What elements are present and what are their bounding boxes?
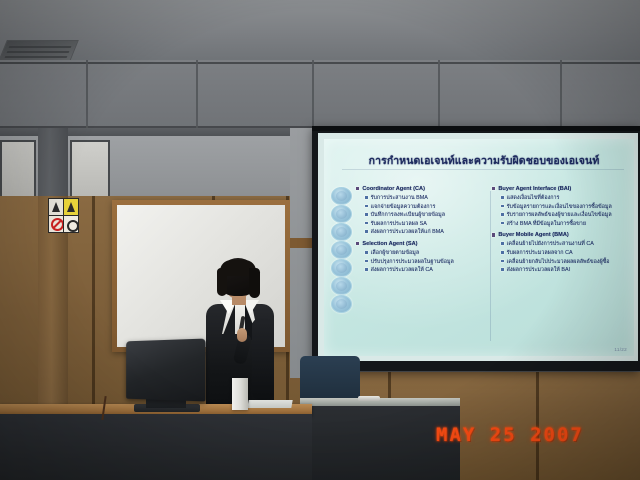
side-board-left [0,140,36,200]
bullet-square-icon [365,213,368,216]
wall-seam [196,60,198,128]
bullet-square-icon [501,205,504,208]
bullet-square-icon [501,260,504,263]
bullet-square-icon [492,187,495,190]
bullet-square-icon [501,213,504,216]
slide-group: Buyer Agent Interface (BAI) แสดงเงื่อนไข… [492,185,632,228]
group-heading: Buyer Agent Interface (BAI) [492,185,632,193]
list-item-label: เคลื่อนย้ายไปยังการประสานงานที่ CA [507,240,594,249]
wall-seam [312,60,314,128]
list-item: เคลื่อนย้ายกลับไปประมวลผลผลลัพธ์ของผู้ซื… [501,258,632,267]
list-item: รับการประสานงาน BMA [365,194,488,203]
list-item-label: รับการประสานงาน BMA [371,194,428,203]
list-item: เคลื่อนย้ายไปยังการประสานงานที่ CA [501,240,632,249]
bullet-square-icon [492,233,495,236]
slide-group: Selection Agent (SA) เลือกผู้ขายตามข้อมู… [356,240,488,275]
list-item-label: สร้าง BMA ที่มีข้อมูลในการซื้อขาย [507,220,586,229]
prohibition-sign-icon [63,215,79,233]
bullet-square-icon [356,187,359,190]
group-heading-label: Coordinator Agent (CA) [362,185,425,193]
list-item-label: เคลื่อนย้ายกลับไปประมวลผลผลลัพธ์ของผู้ซื… [507,258,610,267]
list-item-label: รับผลการประมวลผล SA [371,220,427,229]
bullet-square-icon [501,196,504,199]
projection-screen: การกำหนดเอเจนท์และความรับผิดชอบของเอเจนท… [318,133,638,361]
slide-group: Buyer Mobile Agent (BMA) เคลื่อนย้ายไปยั… [492,231,632,274]
hair-side-right [249,268,260,298]
slide-column-right: Buyer Agent Interface (BAI) แสดงเงื่อนไข… [492,185,632,278]
bullet-square-icon [365,230,368,233]
group-heading-label: Selection Agent (SA) [362,240,417,248]
list-item: ส่งผลการประมวลผลให้ CA [365,266,488,275]
group-heading-label: Buyer Agent Interface (BAI) [498,185,571,193]
column-divider [490,191,491,341]
wall-panel [112,136,290,198]
camera-date-stamp: MAY 25 2007 [436,424,584,446]
warning-signs-group [48,198,78,232]
hand [237,328,247,342]
bullet-square-icon [365,205,368,208]
bullet-square-icon [365,260,368,263]
list-item-label: รับรายการผลลัพธ์ของผู้ขายและเงื่อนไขข้อม… [507,211,612,220]
list-item: ส่งผลการประมวลผลให้ BAI [501,266,632,275]
wall-seam [438,60,440,128]
list-item-label: ปรับปรุงการประมวลผลในฐานข้อมูล [371,258,454,267]
slide-group: Coordinator Agent (CA) รับการประสานงาน B… [356,185,488,237]
powerpoint-slide: การกำหนดเอเจนท์และความรับผิดชอบของเอเจนท… [324,139,634,356]
upper-wall [0,60,640,132]
paper-sheet [247,400,292,408]
list-item-label: ส่งผลการประมวลผลให้ BAI [507,266,571,275]
list-item-label: แสดงเงื่อนไขที่ต้องการ [507,194,560,203]
no-smoking-sign-icon [48,215,64,233]
list-item: แสดงเงื่อนไขที่ต้องการ [501,194,632,203]
ceiling [0,0,640,66]
bullet-square-icon [501,268,504,271]
list-item: รับรายการผลลัพธ์ของผู้ขายและเงื่อนไขข้อม… [501,211,632,220]
list-item-label: ส่งผลการประมวลผลให้แก่ BMA [371,228,444,237]
wall-seam [560,60,562,128]
list-item: เลือกผู้ขายตามข้อมูล [365,249,488,258]
wall-seam [86,60,88,128]
list-item-label: บันทึกการลงทะเบียนผู้ขายข้อมูล [371,211,445,220]
crt-monitor [118,340,210,412]
warning-sign-icon [63,198,79,216]
list-item: รับข้อมูลรายการและเงื่อนไขของการซื้อข้อม… [501,203,632,212]
white-box-object [232,378,248,410]
podium-desk-front [0,414,312,480]
bullet-square-icon [365,251,368,254]
list-item-label: ส่งผลการประมวลผลให้ CA [371,266,433,275]
arm [252,318,274,400]
list-item: บันทึกการลงทะเบียนผู้ขายข้อมูล [365,211,488,220]
list-item-label: รับผลการประมวลผลจาก CA [507,249,573,258]
list-item: รับผลการประมวลผล SA [365,220,488,229]
group-heading: Selection Agent (SA) [356,240,488,248]
bead-chain-decoration [330,187,352,317]
list-item-label: แจกจ่ายข้อมูลความต้องการ [371,203,436,212]
bullet-square-icon [501,222,504,225]
chair [300,356,360,404]
bullet-square-icon [365,268,368,271]
list-item: แจกจ่ายข้อมูลความต้องการ [365,203,488,212]
bullet-square-icon [501,242,504,245]
notice-sign-icon [48,198,64,216]
desk-object [358,396,380,401]
title-underline [342,169,624,170]
side-board-left-2 [70,140,110,200]
list-item: ส่งผลการประมวลผลให้แก่ BMA [365,228,488,237]
bullet-square-icon [501,251,504,254]
bullet-square-icon [356,242,359,245]
photograph: การกำหนดเอเจนท์และความรับผิดชอบของเอเจนท… [0,0,640,480]
list-item-label: รับข้อมูลรายการและเงื่อนไขของการซื้อข้อม… [507,203,612,212]
slide-page-number: 11/22 [614,347,627,352]
list-item: รับผลการประมวลผลจาก CA [501,249,632,258]
wall-seam [0,62,640,64]
bullet-square-icon [365,222,368,225]
slide-column-left: Coordinator Agent (CA) รับการประสานงาน B… [356,185,488,278]
list-item: ปรับปรุงการประมวลผลในฐานข้อมูล [365,258,488,267]
group-heading: Buyer Mobile Agent (BMA) [492,231,632,239]
bullet-square-icon [365,196,368,199]
hair-side-left [217,268,227,296]
list-item-label: เลือกผู้ขายตามข้อมูล [371,249,420,258]
list-item: สร้าง BMA ที่มีข้อมูลในการซื้อขาย [501,220,632,229]
group-heading-label: Buyer Mobile Agent (BMA) [498,231,568,239]
group-heading: Coordinator Agent (CA) [356,185,488,193]
slide-title: การกำหนดเอเจนท์และความรับผิดชอบของเอเจนท… [342,152,626,169]
